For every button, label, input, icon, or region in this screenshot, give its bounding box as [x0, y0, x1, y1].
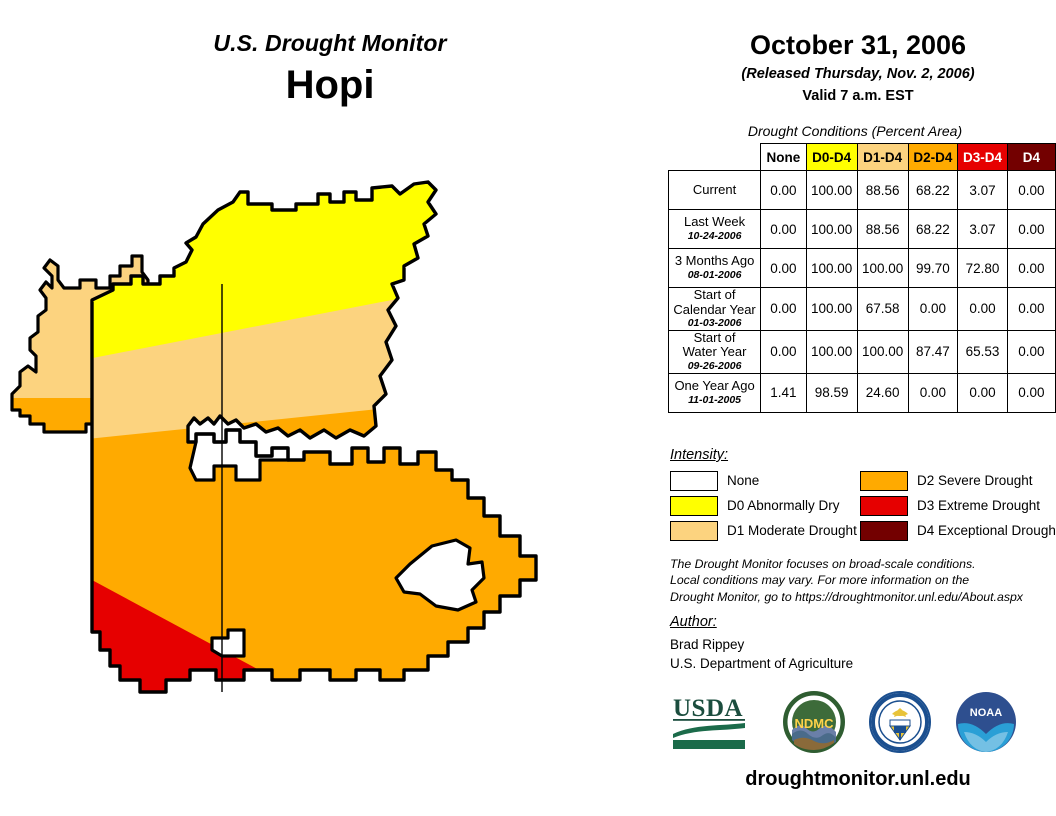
legend-label: D2 Severe Drought — [917, 473, 1033, 488]
cell-d0-d4: 100.00 — [806, 171, 857, 210]
info-panel: October 31, 2006 (Released Thursday, Nov… — [660, 0, 1056, 816]
column-header-d4: D4 — [1007, 144, 1055, 171]
cell-d2-d4: 68.22 — [908, 171, 958, 210]
svg-text:NDMC: NDMC — [795, 716, 835, 731]
report-valid-time: Valid 7 a.m. EST — [660, 88, 1056, 104]
map-region-hopi-main — [0, 180, 660, 740]
table-row: 3 Months Ago 08-01-2006 0.00 100.00 100.… — [669, 249, 1056, 288]
swatch-d1-icon — [670, 521, 718, 541]
swatch-d3-icon — [860, 496, 908, 516]
legend-item-d2: D2 Severe Drought — [860, 468, 1056, 493]
cell-d1-d4: 88.56 — [857, 210, 908, 249]
cell-none: 0.00 — [761, 288, 807, 331]
noaa-logo: NOAA — [954, 690, 1018, 754]
swatch-d4-icon — [860, 521, 908, 541]
table-row: One Year Ago 11-01-2005 1.41 98.59 24.60… — [669, 373, 1056, 412]
usda-logo: USDA — [672, 690, 750, 752]
row-label-last-week: Last Week 10-24-2006 — [669, 210, 761, 249]
row-label-text: One Year Ago — [674, 378, 754, 393]
map-title: U.S. Drought Monitor — [0, 30, 660, 57]
report-date: October 31, 2006 — [660, 30, 1056, 61]
cell-none: 0.00 — [761, 210, 807, 249]
row-label-date: 09-26-2006 — [669, 361, 760, 373]
cell-d3-d4: 3.07 — [958, 210, 1008, 249]
cell-d0-d4: 100.00 — [806, 249, 857, 288]
swatch-none-icon — [670, 471, 718, 491]
cell-d2-d4: 0.00 — [908, 288, 958, 331]
cell-d0-d4: 100.00 — [806, 288, 857, 331]
legend-label: D3 Extreme Drought — [917, 498, 1040, 513]
legend-column-right: D2 Severe Drought D3 Extreme Drought D4 … — [860, 468, 1056, 543]
cell-d0-d4: 100.00 — [806, 210, 857, 249]
author-name: Brad Rippey — [670, 637, 744, 652]
map-subject-name: Hopi — [0, 64, 660, 106]
legend-item-d1: D1 Moderate Drought — [670, 518, 857, 543]
cell-d1-d4: 100.00 — [857, 330, 908, 373]
legend-item-d0: D0 Abnormally Dry — [670, 493, 857, 518]
table-caption: Drought Conditions (Percent Area) — [660, 123, 1050, 139]
legend-label: None — [727, 473, 759, 488]
legend-item-d4: D4 Exceptional Drought — [860, 518, 1056, 543]
cell-d3-d4: 3.07 — [958, 171, 1008, 210]
cell-none: 0.00 — [761, 171, 807, 210]
column-header-none: None — [761, 144, 807, 171]
cell-d4: 0.00 — [1007, 373, 1055, 412]
row-label-text: Current — [693, 182, 736, 197]
table-row: Current 0.00 100.00 88.56 68.22 3.07 0.0… — [669, 171, 1056, 210]
row-label-text: 3 Months Ago — [675, 253, 755, 268]
legend-label: D4 Exceptional Drought — [917, 523, 1056, 538]
cell-d3-d4: 0.00 — [958, 288, 1008, 331]
author-organization: U.S. Department of Agriculture — [670, 656, 853, 671]
swatch-d0-icon — [670, 496, 718, 516]
column-header-d0-d4: D0-D4 — [806, 144, 857, 171]
cell-none: 1.41 — [761, 373, 807, 412]
table-corner-cell — [669, 144, 761, 171]
cell-d2-d4: 99.70 — [908, 249, 958, 288]
cell-d1-d4: 100.00 — [857, 249, 908, 288]
row-label-one-year-ago: One Year Ago 11-01-2005 — [669, 373, 761, 412]
cell-d3-d4: 65.53 — [958, 330, 1008, 373]
table-header-row: None D0-D4 D1-D4 D2-D4 D3-D4 D4 — [669, 144, 1056, 171]
column-header-d2-d4: D2-D4 — [908, 144, 958, 171]
column-header-d3-d4: D3-D4 — [958, 144, 1008, 171]
cell-d2-d4: 87.47 — [908, 330, 958, 373]
cell-d2-d4: 68.22 — [908, 210, 958, 249]
row-label-current: Current — [669, 171, 761, 210]
report-released: (Released Thursday, Nov. 2, 2006) — [660, 66, 1056, 82]
drought-conditions-table: None D0-D4 D1-D4 D2-D4 D3-D4 D4 Current … — [668, 143, 1056, 413]
swatch-d2-icon — [860, 471, 908, 491]
logo-row: USDA NDMC — [666, 690, 1056, 760]
legend-column-left: None D0 Abnormally Dry D1 Moderate Droug… — [670, 468, 857, 543]
row-label-text: Start ofWater Year — [683, 330, 747, 360]
cell-none: 0.00 — [761, 330, 807, 373]
cell-d1-d4: 88.56 — [857, 171, 908, 210]
drought-monitor-page: U.S. Drought Monitor Hopi — [0, 0, 1056, 816]
svg-text:NOAA: NOAA — [970, 707, 1002, 719]
intensity-heading: Intensity: — [670, 447, 728, 463]
row-label-3-months-ago: 3 Months Ago 08-01-2006 — [669, 249, 761, 288]
cell-d4: 0.00 — [1007, 330, 1055, 373]
table-body: Current 0.00 100.00 88.56 68.22 3.07 0.0… — [669, 171, 1056, 413]
cell-none: 0.00 — [761, 249, 807, 288]
row-label-text: Last Week — [684, 214, 745, 229]
table-row: Start ofCalendar Year 01-03-2006 0.00 10… — [669, 288, 1056, 331]
cell-d4: 0.00 — [1007, 249, 1055, 288]
row-label-text: Start ofCalendar Year — [673, 287, 755, 317]
ndmc-logo: NDMC — [782, 690, 846, 754]
cell-d1-d4: 24.60 — [857, 373, 908, 412]
table-row: Start ofWater Year 09-26-2006 0.00 100.0… — [669, 330, 1056, 373]
row-label-date: 01-03-2006 — [669, 318, 760, 330]
row-label-start-of-calendar-year: Start ofCalendar Year 01-03-2006 — [669, 288, 761, 331]
cell-d2-d4: 0.00 — [908, 373, 958, 412]
map-panel: U.S. Drought Monitor Hopi — [0, 0, 660, 816]
disclaimer-text: The Drought Monitor focuses on broad-sca… — [670, 556, 1055, 605]
cell-d3-d4: 72.80 — [958, 249, 1008, 288]
author-heading: Author: — [670, 614, 717, 630]
legend-label: D0 Abnormally Dry — [727, 498, 840, 513]
cell-d4: 0.00 — [1007, 210, 1055, 249]
cell-d3-d4: 0.00 — [958, 373, 1008, 412]
cell-d0-d4: 100.00 — [806, 330, 857, 373]
row-label-date: 10-24-2006 — [669, 231, 760, 243]
cell-d0-d4: 98.59 — [806, 373, 857, 412]
cell-d4: 0.00 — [1007, 288, 1055, 331]
cell-d4: 0.00 — [1007, 171, 1055, 210]
row-label-start-of-water-year: Start ofWater Year 09-26-2006 — [669, 330, 761, 373]
svg-text:USDA: USDA — [673, 695, 743, 722]
column-header-d1-d4: D1-D4 — [857, 144, 908, 171]
cell-d1-d4: 67.58 — [857, 288, 908, 331]
legend-label: D1 Moderate Drought — [727, 523, 857, 538]
table-row: Last Week 10-24-2006 0.00 100.00 88.56 6… — [669, 210, 1056, 249]
row-label-date: 11-01-2005 — [669, 395, 760, 407]
site-url: droughtmonitor.unl.edu — [660, 768, 1056, 791]
legend-item-d3: D3 Extreme Drought — [860, 493, 1056, 518]
hopi-drought-map — [0, 180, 660, 740]
row-label-date: 08-01-2006 — [669, 270, 760, 282]
usdc-seal-logo — [868, 690, 932, 754]
legend-item-none: None — [670, 468, 857, 493]
